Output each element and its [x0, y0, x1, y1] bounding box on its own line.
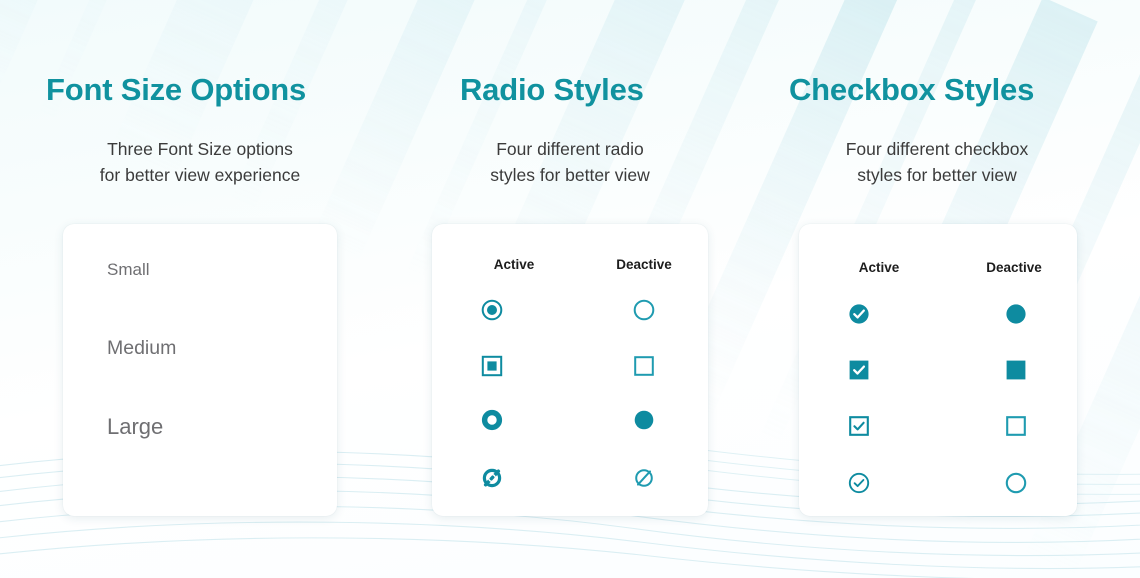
checkbox-square-filled-check-icon[interactable] [847, 358, 871, 382]
checkbox-circle-filled-check-icon[interactable] [847, 302, 871, 326]
checkbox-square-solid-icon[interactable] [1004, 358, 1028, 382]
radio-circle-empty-icon[interactable] [632, 298, 656, 322]
checkbox-header-active: Active [819, 260, 939, 275]
subtitle-checkbox-line2: styles for better view [782, 162, 1092, 188]
radio-circle-filled-dot-icon[interactable] [480, 298, 504, 322]
radio-dot-solid-icon[interactable] [632, 408, 656, 432]
subtitle-font-size-line2: for better view experience [40, 162, 360, 188]
page-title-radio: Radio Styles [460, 72, 644, 108]
radio-donut-thick-icon[interactable] [480, 408, 504, 432]
subtitle-checkbox-line1: Four different checkbox [782, 136, 1092, 162]
checkbox-circle-outline-check-icon[interactable] [847, 471, 871, 495]
page-title-checkbox: Checkbox Styles [789, 72, 1034, 108]
page-title-font-size: Font Size Options [46, 72, 306, 108]
radio-header-active: Active [454, 257, 574, 272]
checkbox-square-outline-check-icon[interactable] [847, 414, 871, 438]
checkbox-square-outline-icon[interactable] [1004, 414, 1028, 438]
subtitle-font-size-line1: Three Font Size options [40, 136, 360, 162]
card-radio-styles: Active Deactive [432, 224, 708, 516]
subtitle-radio-line2: styles for better view [415, 162, 725, 188]
radio-square-filled-inner-icon[interactable] [480, 354, 504, 378]
card-checkbox-styles: Active Deactive [799, 224, 1077, 516]
radio-square-empty-icon[interactable] [632, 354, 656, 378]
radio-header-deactive: Deactive [584, 257, 704, 272]
font-size-option-large[interactable]: Large [107, 414, 163, 440]
card-font-size: Small Medium Large [63, 224, 337, 516]
checkbox-circle-outline-icon[interactable] [1004, 471, 1028, 495]
radio-circle-slash-outline-icon[interactable] [632, 466, 656, 490]
subtitle-radio-line1: Four different radio [415, 136, 725, 162]
radio-circle-slash-filled-icon[interactable] [480, 466, 504, 490]
checkbox-header-deactive: Deactive [954, 260, 1074, 275]
font-size-option-medium[interactable]: Medium [107, 337, 176, 360]
font-size-option-small[interactable]: Small [107, 260, 150, 280]
checkbox-circle-solid-icon[interactable] [1004, 302, 1028, 326]
